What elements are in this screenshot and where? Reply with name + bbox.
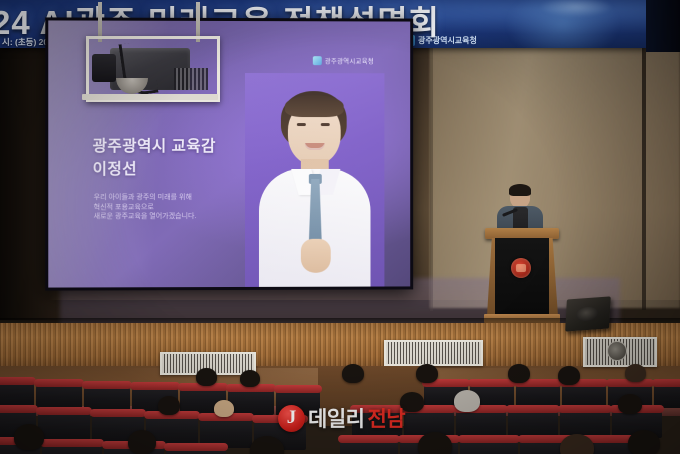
slide-body-line-3: 새로운 광주교육을 열어가겠습니다. <box>94 212 197 222</box>
slide-logo-text: 광주광역시교육청 <box>325 55 374 65</box>
banner-education-office-logo: 광주광역시교육청 <box>404 35 477 46</box>
audience-head <box>128 430 156 454</box>
audience-head <box>454 390 480 412</box>
seat <box>42 444 102 454</box>
banner-logo-text: 광주광역시교육청 <box>418 35 477 46</box>
audience-head <box>14 424 44 450</box>
audience-head <box>240 370 260 387</box>
projector-cage-base <box>82 94 218 100</box>
slide-portrait-photo <box>245 73 384 287</box>
watermark-text-part2: 전남 <box>367 403 405 433</box>
audience-head <box>158 396 180 415</box>
podium-emblem-icon <box>511 258 531 278</box>
seat <box>456 410 506 438</box>
seat <box>460 440 518 454</box>
watermark-logo: J 데일리 전남 <box>278 403 405 433</box>
seat <box>166 448 226 454</box>
floor-monitor-speaker <box>565 296 611 331</box>
slide-logo-icon <box>313 56 322 65</box>
slide-title: 광주광역시 교육감 <box>93 134 216 156</box>
seat <box>340 440 398 454</box>
banner-right-shadow <box>646 0 680 52</box>
watermark-text-part1: 데일리 <box>308 403 364 433</box>
slide-logo: 광주광역시교육청 <box>313 55 374 65</box>
auditorium-photo: 24 AI광주 미래교육 정책설명회 시: (초등) 2024. 4. 8.(월… <box>0 0 680 454</box>
audience-head <box>618 394 642 414</box>
watermark-circle-icon: J <box>278 405 305 432</box>
slide-body-line-1: 우리 아이들과 광주의 미래를 위해 <box>94 193 197 203</box>
slide-body-line-2: 혁신적 포용교육으로 <box>94 203 197 213</box>
audience-head <box>628 430 660 454</box>
wall-vent-fan-icon <box>607 341 627 361</box>
audience-head <box>196 368 217 386</box>
slide-body-text: 우리 아이들과 광주의 미래를 위해 혁신적 포용교육으로 새로운 광주교육을 … <box>94 193 197 222</box>
watermark-letter: J <box>287 408 297 427</box>
seat <box>38 412 90 442</box>
audience-head <box>418 432 452 454</box>
portrait-hand <box>301 239 331 273</box>
wall-seam-right <box>642 30 646 310</box>
audience-head <box>558 366 580 385</box>
portrait-hair-front <box>285 95 344 117</box>
ceiling-projector-rig <box>86 36 214 108</box>
audience-head <box>214 400 234 417</box>
projector-cage-frame <box>86 36 220 102</box>
wall-seam <box>430 26 433 311</box>
podium <box>489 228 555 328</box>
audience-head <box>625 364 646 382</box>
audience-head <box>416 364 438 383</box>
audience-head <box>508 364 530 383</box>
podium-top <box>485 228 559 239</box>
seat <box>228 389 274 415</box>
podium-edge-left <box>487 238 495 316</box>
portrait-eye-right <box>321 123 330 126</box>
slide-person-name: 이정선 <box>93 157 138 179</box>
audience-head <box>342 364 364 383</box>
presenter-hair <box>509 184 531 196</box>
portrait-eye-left <box>297 123 306 126</box>
seat <box>508 410 558 438</box>
seat <box>560 410 610 438</box>
audience-head <box>560 434 594 454</box>
